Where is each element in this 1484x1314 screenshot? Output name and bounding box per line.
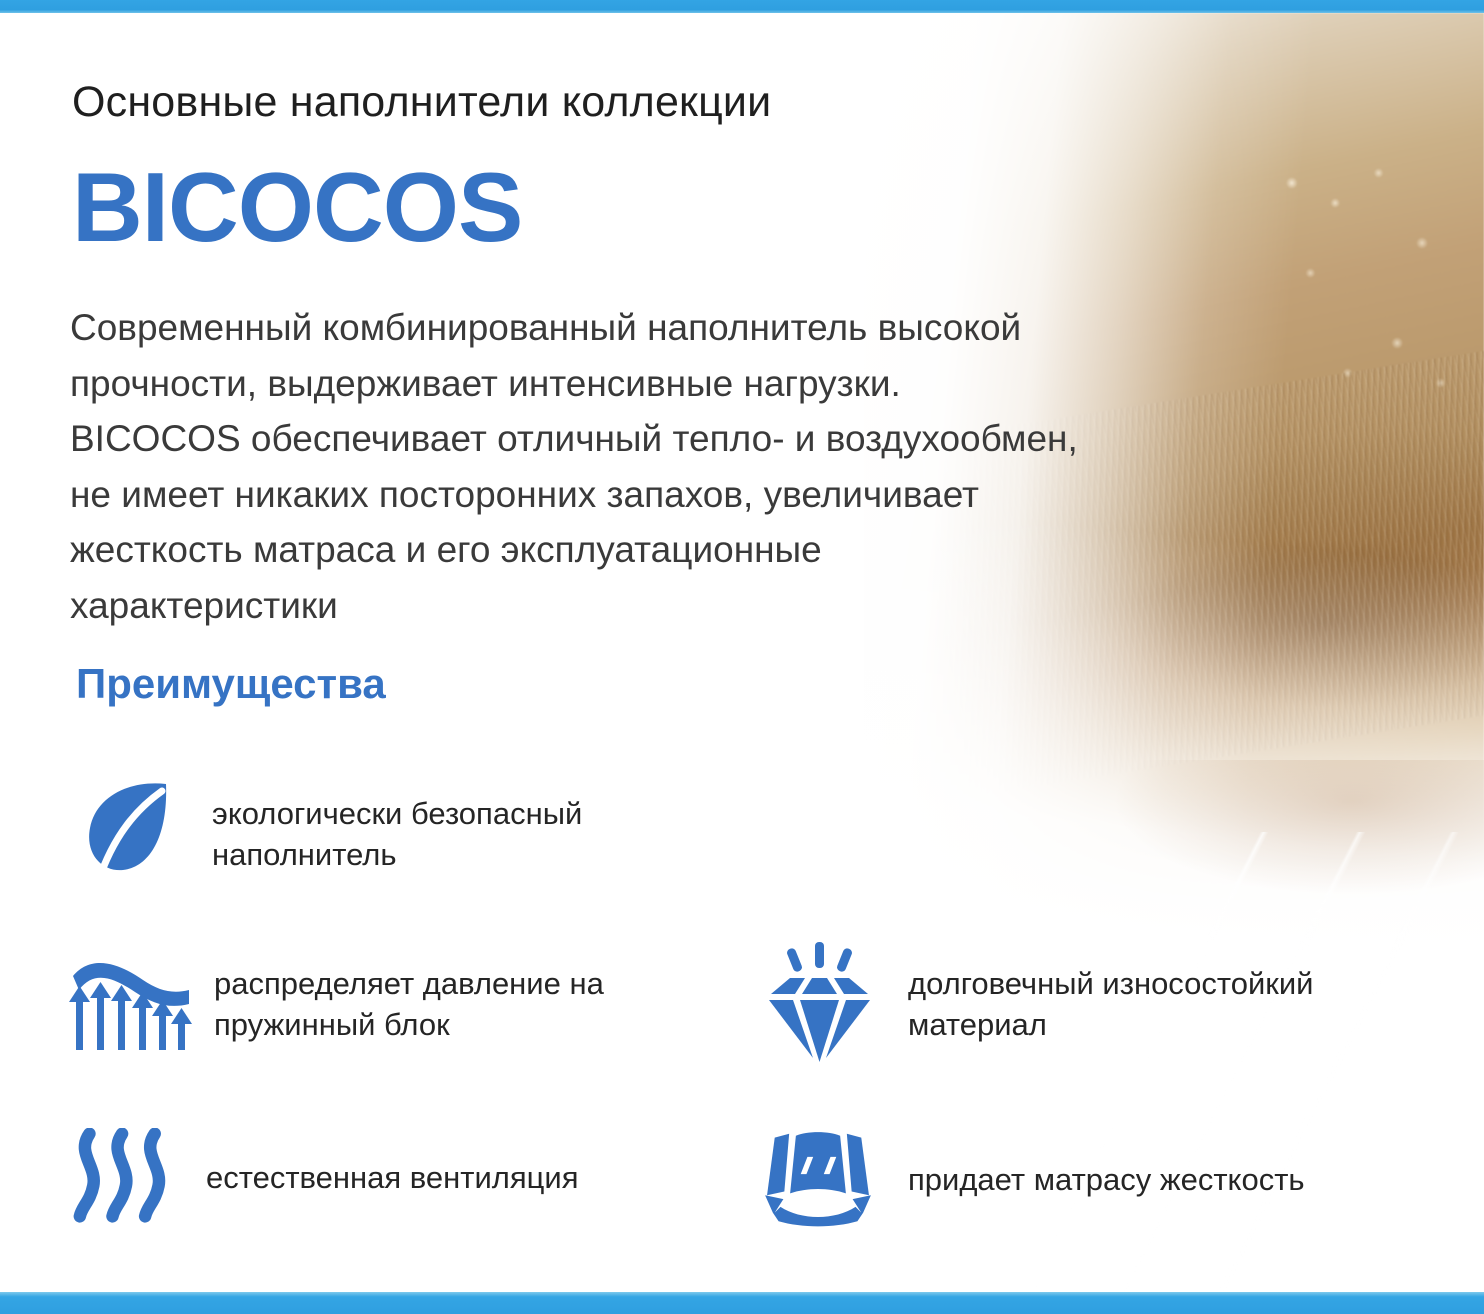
diamond-icon	[760, 940, 878, 1069]
advantage-item-pressure: распределяет давление на пружинный блок	[66, 950, 706, 1059]
advantage-item-durable: долговечный износостойкий материал	[760, 940, 1420, 1069]
brand-title: BICOCOS	[72, 158, 522, 256]
top-accent-band	[0, 0, 1484, 13]
advantage-label-ventilation: естественная вентиляция	[206, 1158, 579, 1199]
advantage-item-ventilation: естественная вентиляция	[70, 1128, 710, 1229]
bottom-accent-band	[0, 1292, 1484, 1314]
advantage-item-firmness: придает матрасу жесткость	[752, 1128, 1432, 1233]
lead-paragraph: Современный комбинированный наполнитель …	[70, 300, 1080, 633]
advantages-heading: Преимущества	[76, 660, 386, 708]
advantage-label-pressure: распределяет давление на пружинный блок	[214, 964, 706, 1046]
pressure-arrows-icon	[66, 950, 196, 1059]
leaf-icon	[72, 778, 184, 891]
advantage-label-firmness: придает матрасу жесткость	[908, 1160, 1305, 1201]
advantage-label-durable: долговечный износостойкий материал	[908, 964, 1420, 1046]
mattress-firmness-icon	[752, 1128, 884, 1233]
advantage-label-eco: экологически безопасный наполнитель	[212, 794, 712, 876]
page-kicker: Основные наполнители коллекции	[72, 78, 771, 127]
advantage-item-eco: экологически безопасный наполнитель	[72, 778, 712, 891]
infographic-page: Основные наполнители коллекции BICOCOS С…	[0, 0, 1484, 1314]
ventilation-waves-icon	[70, 1128, 178, 1229]
